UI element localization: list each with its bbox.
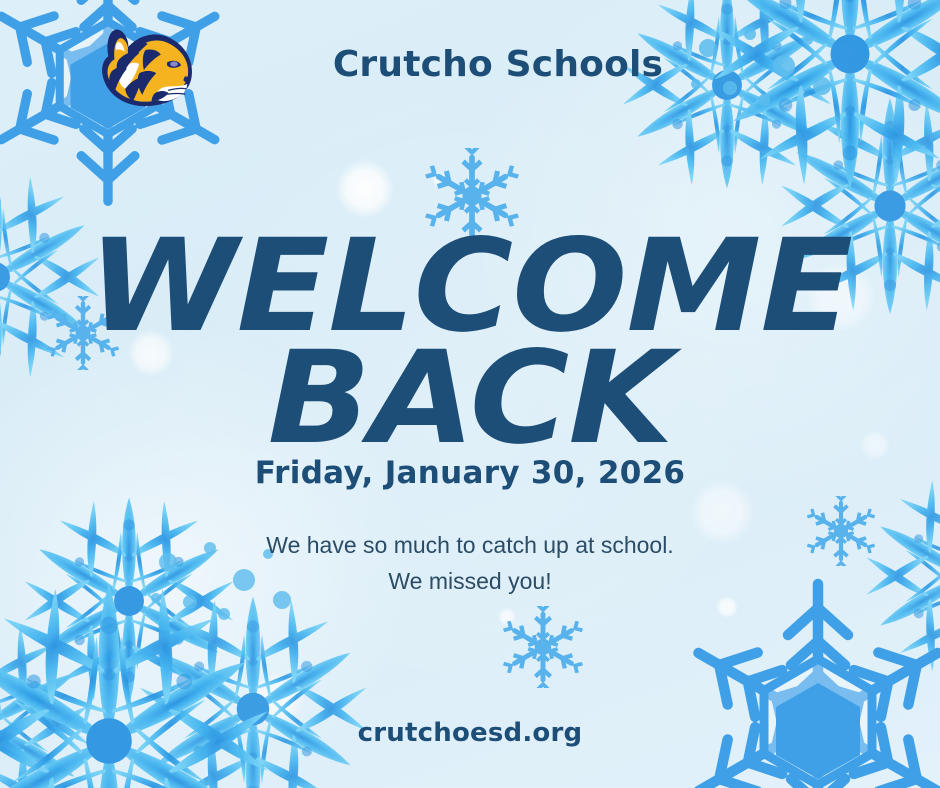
tiger-head-mascot-icon [72, 16, 208, 132]
website-url: crutchoesd.org [0, 718, 940, 748]
event-date: Friday, January 30, 2026 [0, 455, 940, 491]
body-copy-line-1: We have so much to catch up at school. [0, 528, 940, 564]
headline-line-2: BACK [0, 340, 940, 458]
welcome-back-poster: Crutcho Schools WELCOME BACK Friday, Jan… [0, 0, 940, 788]
body-copy-line-2: We missed you! [0, 564, 940, 600]
body-copy: We have so much to catch up at school. W… [0, 528, 940, 599]
headline-block: WELCOME BACK [0, 228, 940, 458]
